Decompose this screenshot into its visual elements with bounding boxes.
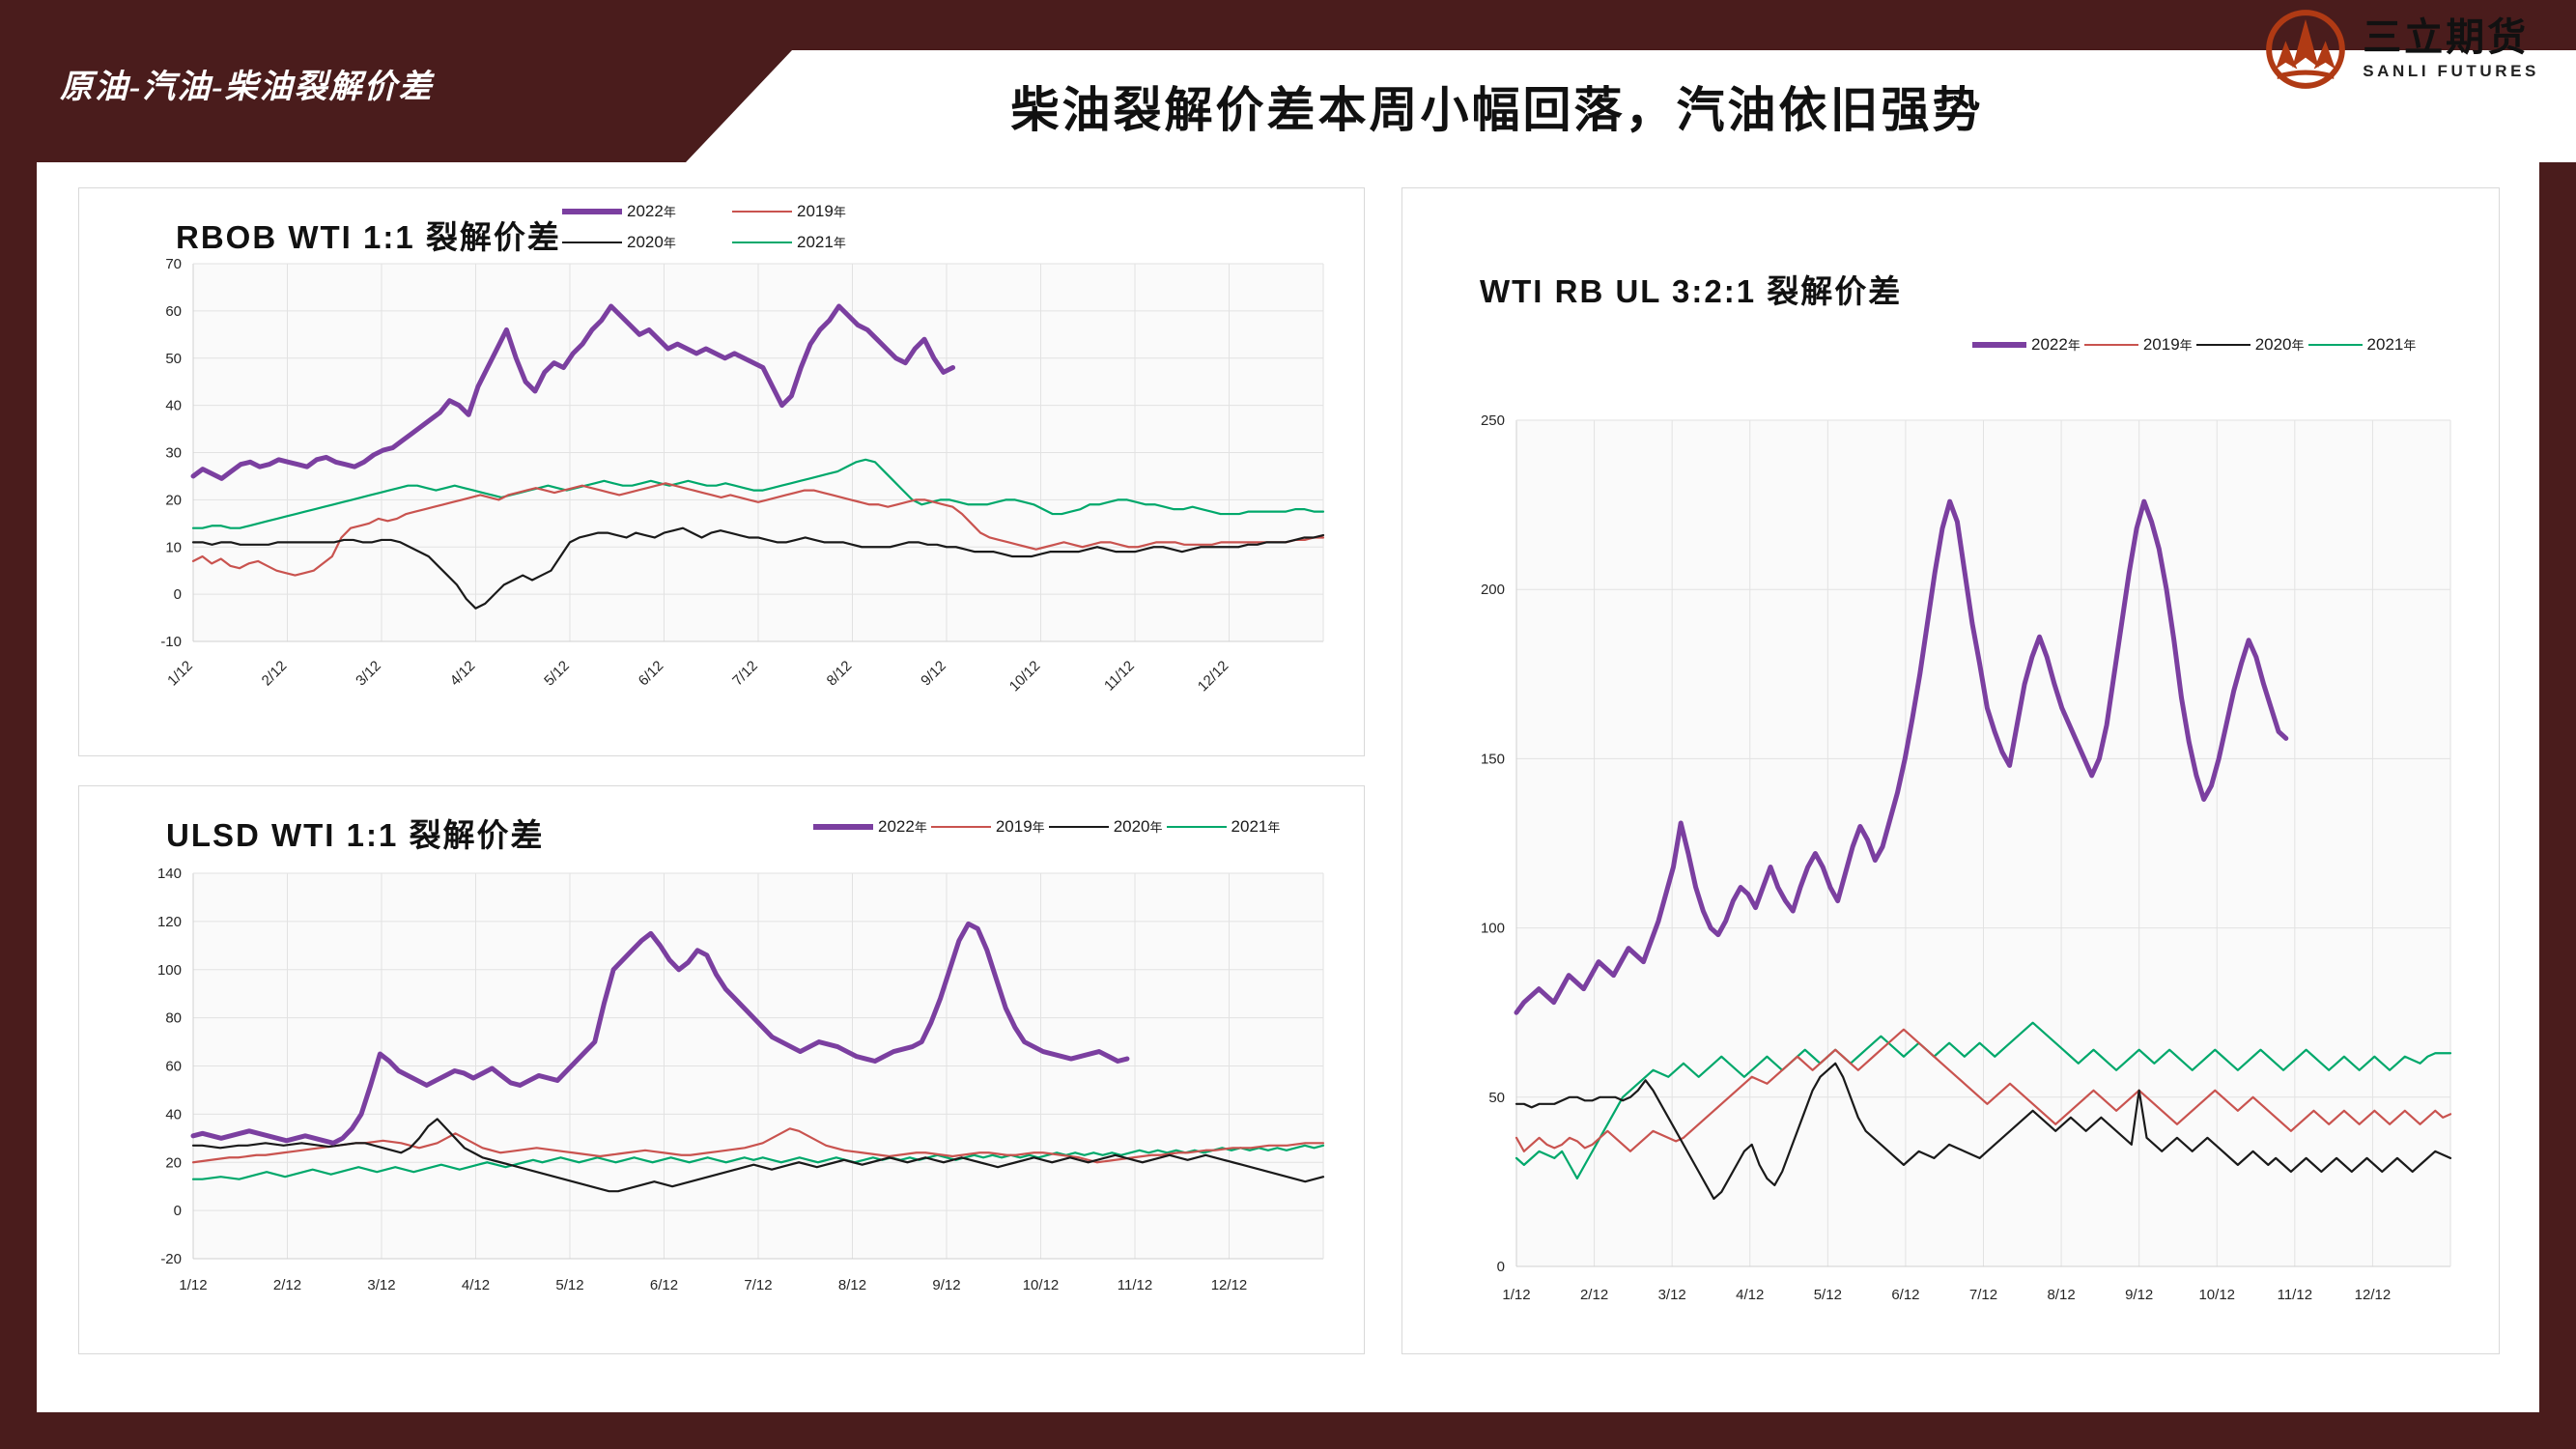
x-tick-label: 10/12 <box>1023 1277 1060 1293</box>
x-tick-label: 3/12 <box>367 1277 395 1293</box>
y-tick-label: 40 <box>165 398 182 414</box>
legend-swatch-icon <box>562 241 622 244</box>
legend-item-2022[interactable]: 2022年 <box>562 202 732 221</box>
y-tick-label: 40 <box>165 1106 182 1122</box>
legend-label: 2020年 <box>1114 817 1163 837</box>
y-tick-label: 140 <box>157 866 182 882</box>
y-tick-label: 120 <box>157 914 182 930</box>
legend-label: 2021年 <box>2367 335 2417 355</box>
x-tick-label: 7/12 <box>1969 1287 1997 1303</box>
y-tick-label: -10 <box>160 634 182 650</box>
legend-label: 2022年 <box>878 817 927 837</box>
y-tick-label: 100 <box>1481 921 1505 937</box>
legend-swatch-icon <box>1972 342 2026 348</box>
legend-item-2019[interactable]: 2019年 <box>732 202 902 221</box>
x-tick-label: 2/12 <box>273 1277 301 1293</box>
content-board: RBOB WTI 1:1 裂解价差 2022年2019年2020年2021年 -… <box>37 162 2539 1412</box>
sanli-mountain-icon <box>2264 8 2347 91</box>
legend-item-2021[interactable]: 2021年 <box>1167 817 1281 837</box>
brand-logo: 三立期货 SANLI FUTURES <box>2264 8 2539 91</box>
legend-label: 2019年 <box>996 817 1045 837</box>
legend-label: 2019年 <box>797 202 846 221</box>
legend-item-2022[interactable]: 2022年 <box>1972 335 2081 355</box>
legend-swatch-icon <box>813 824 873 830</box>
x-tick-label: 7/12 <box>744 1277 772 1293</box>
x-tick-label: 4/12 <box>462 1277 490 1293</box>
x-tick-label: 9/12 <box>2125 1287 2153 1303</box>
legend-swatch-icon <box>2084 344 2138 347</box>
legend-label: 2022年 <box>2031 335 2081 355</box>
legend-swatch-icon <box>732 211 792 213</box>
x-tick-label: 5/12 <box>541 658 573 690</box>
x-tick-label: 12/12 <box>1195 658 1232 696</box>
y-tick-label: 0 <box>1497 1259 1505 1275</box>
page-title: 柴油裂解价差本周小幅回落，汽油依旧强势 <box>686 50 2308 162</box>
x-tick-label: 7/12 <box>729 658 761 690</box>
chart-canvas-crack321: 0501001502002501/122/123/124/125/126/127… <box>1402 391 2499 1353</box>
chart-panel-ulsd: ULSD WTI 1:1 裂解价差 2022年2019年2020年2021年 -… <box>78 785 1365 1354</box>
y-tick-label: 50 <box>1488 1090 1505 1106</box>
y-tick-label: 10 <box>165 539 182 555</box>
x-tick-label: 1/12 <box>1502 1287 1530 1303</box>
chart-panel-rbob: RBOB WTI 1:1 裂解价差 2022年2019年2020年2021年 -… <box>78 187 1365 756</box>
y-tick-label: 150 <box>1481 751 1505 767</box>
header-bar: 原油-汽油-柴油裂解价差 柴油裂解价差本周小幅回落，汽油依旧强势 三立期货 SA… <box>0 0 2576 162</box>
y-tick-label: 0 <box>174 1203 182 1219</box>
legend-item-2020[interactable]: 2020年 <box>1049 817 1163 837</box>
y-tick-label: 60 <box>165 1059 182 1075</box>
chart-legend-crack321: 2022年2019年2020年2021年 <box>1972 335 2494 355</box>
legend-label: 2019年 <box>2143 335 2193 355</box>
legend-swatch-icon <box>1049 826 1109 829</box>
chart-canvas-rbob: -100102030405060701/122/123/124/125/126/… <box>79 246 1364 753</box>
legend-label: 2021年 <box>1231 817 1281 837</box>
y-tick-label: 60 <box>165 303 182 320</box>
x-tick-label: 9/12 <box>918 658 949 690</box>
legend-item-2022[interactable]: 2022年 <box>813 817 927 837</box>
legend-item-2019[interactable]: 2019年 <box>931 817 1045 837</box>
x-tick-label: 2/12 <box>1580 1287 1608 1303</box>
x-tick-label: 8/12 <box>2047 1287 2075 1303</box>
y-tick-label: 30 <box>165 445 182 462</box>
legend-item-2021[interactable]: 2021年 <box>2308 335 2417 355</box>
y-tick-label: 80 <box>165 1010 182 1027</box>
x-tick-label: 8/12 <box>838 1277 866 1293</box>
y-tick-label: -20 <box>160 1251 182 1267</box>
legend-item-2019[interactable]: 2019年 <box>2084 335 2193 355</box>
legend-item-2020[interactable]: 2020年 <box>2196 335 2305 355</box>
chart-panel-crack321: WTI RB UL 3:2:1 裂解价差 2022年2019年2020年2021… <box>1401 187 2500 1354</box>
chart-canvas-ulsd: -200204060801001201401/122/123/124/125/1… <box>79 856 1364 1351</box>
x-tick-label: 4/12 <box>1736 1287 1764 1303</box>
y-tick-label: 250 <box>1481 412 1505 429</box>
legend-swatch-icon <box>931 826 991 829</box>
x-tick-label: 6/12 <box>636 658 667 690</box>
legend-label: 2020年 <box>2255 335 2305 355</box>
y-tick-label: 50 <box>165 351 182 367</box>
brand-name-en: SANLI FUTURES <box>2363 62 2539 81</box>
x-tick-label: 3/12 <box>1658 1287 1686 1303</box>
legend-swatch-icon <box>2308 344 2363 347</box>
x-tick-label: 10/12 <box>1006 658 1044 696</box>
x-tick-label: 4/12 <box>447 658 479 690</box>
x-tick-label: 11/12 <box>2278 1287 2312 1303</box>
chart-title-ulsd: ULSD WTI 1:1 裂解价差 <box>166 810 545 856</box>
legend-swatch-icon <box>1167 826 1227 829</box>
x-tick-label: 10/12 <box>2198 1287 2235 1303</box>
x-tick-label: 3/12 <box>353 658 384 690</box>
slide-root: 原油-汽油-柴油裂解价差 柴油裂解价差本周小幅回落，汽油依旧强势 三立期货 SA… <box>0 0 2576 1449</box>
x-tick-label: 2/12 <box>259 658 291 690</box>
legend-swatch-icon <box>2196 344 2250 347</box>
x-tick-label: 1/12 <box>179 1277 207 1293</box>
y-tick-label: 70 <box>165 256 182 272</box>
legend-swatch-icon <box>562 209 622 214</box>
x-tick-label: 6/12 <box>650 1277 678 1293</box>
x-tick-label: 5/12 <box>1814 1287 1842 1303</box>
y-tick-label: 20 <box>165 492 182 508</box>
x-tick-label: 1/12 <box>164 658 196 690</box>
x-tick-label: 12/12 <box>1211 1277 1248 1293</box>
y-tick-label: 0 <box>174 586 182 603</box>
brand-text: 三立期货 SANLI FUTURES <box>2363 17 2539 81</box>
x-tick-label: 5/12 <box>555 1277 583 1293</box>
y-tick-label: 20 <box>165 1154 182 1171</box>
y-tick-label: 200 <box>1481 582 1505 598</box>
x-tick-label: 9/12 <box>932 1277 960 1293</box>
legend-label: 2022年 <box>627 202 676 221</box>
header-category-label: 原油-汽油-柴油裂解价差 <box>60 60 434 107</box>
chart-title-crack321: WTI RB UL 3:2:1 裂解价差 <box>1480 266 1902 312</box>
x-tick-label: 8/12 <box>824 658 856 690</box>
brand-name-cn: 三立期货 <box>2363 17 2539 58</box>
x-tick-label: 6/12 <box>1891 1287 1919 1303</box>
x-tick-label: 11/12 <box>1101 658 1138 695</box>
y-tick-label: 100 <box>157 962 182 979</box>
x-tick-label: 11/12 <box>1118 1277 1152 1293</box>
chart-legend-ulsd: 2022年2019年2020年2021年 <box>813 817 1335 837</box>
x-tick-label: 12/12 <box>2355 1287 2392 1303</box>
legend-swatch-icon <box>732 241 792 244</box>
